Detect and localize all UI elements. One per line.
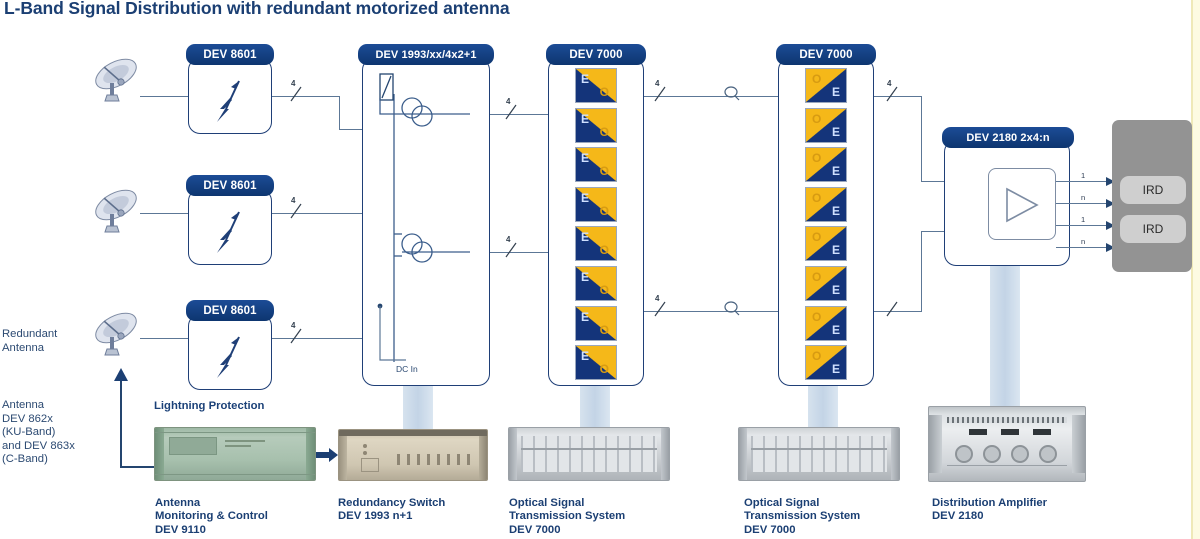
page-title: L-Band Signal Distribution with redundan… [4, 0, 509, 19]
optical-rx-module-3[interactable]: OE [805, 147, 847, 182]
connector-bar-optical-rx [808, 386, 838, 430]
optical-rx-module-6-letter-electrical: E [832, 284, 840, 296]
optical-rx-module-1-letter-electrical: E [832, 86, 840, 98]
satellite-dish-icon-3-redundant [86, 309, 142, 361]
switch-matrix-schematic [366, 66, 488, 384]
photo-redundancy-switch-dev1993 [338, 429, 488, 481]
optical-tx-module-6-letter-optical: O [600, 284, 609, 296]
bus-count-6: 4 [655, 79, 659, 88]
bus-slash-9 [884, 299, 900, 319]
optical-tx-module-2-letter-optical: O [600, 126, 609, 138]
amp-output-label-2: n [1081, 193, 1085, 202]
optical-tx-module-8-letter-optical: O [600, 363, 609, 375]
photo-optical-tx-dev7000 [508, 427, 670, 481]
device-optical-rx-label: DEV 7000 [776, 44, 876, 65]
caption-distribution-amplifier: Distribution Amplifier DEV 2180 [932, 497, 1132, 524]
device-lnb-3-label: DEV 8601 [186, 300, 274, 321]
optical-rx-module-6[interactable]: OE [805, 266, 847, 301]
photo-antenna-monitoring-dev9110 [154, 427, 316, 481]
label-antenna-types: Antenna DEV 862x (KU-Band) and DEV 863x … [2, 399, 102, 467]
connector-bar-distribution-amplifier [990, 266, 1020, 406]
wire-lnb1-drop [339, 96, 340, 130]
lightning-bolt-icon-2 [206, 207, 254, 259]
wire-rx-bottom-rise [921, 231, 922, 312]
optical-tx-module-3-letter-optical: O [600, 165, 609, 177]
optical-tx-module-1-letter-optical: O [600, 86, 609, 98]
amp-output-label-1: 1 [1081, 171, 1085, 180]
amp-output-label-4: n [1081, 237, 1085, 246]
bus-count-8: 4 [887, 79, 891, 88]
optical-tx-module-6-letter-electrical: E [581, 271, 589, 283]
satellite-dish-icon-1 [86, 55, 142, 107]
optical-rx-module-3-letter-optical: O [812, 152, 821, 164]
page-right-border-inner [1191, 0, 1193, 539]
optical-tx-module-1[interactable]: EO [575, 68, 617, 103]
optical-rx-module-7[interactable]: OE [805, 306, 847, 341]
caption-optical-tx: Optical Signal Transmission System DEV 7… [509, 497, 689, 537]
optical-tx-module-3[interactable]: EO [575, 147, 617, 182]
optical-tx-module-2[interactable]: EO [575, 108, 617, 143]
device-distribution-amplifier-label: DEV 2180 2x4:n [942, 127, 1074, 148]
wire-dish1-to-lnb1 [140, 96, 188, 97]
device-optical-tx-label: DEV 7000 [546, 44, 646, 65]
bus-count-7: 4 [655, 294, 659, 303]
arrow-monitoring-to-switch [316, 448, 340, 464]
optical-rx-module-7-letter-optical: O [812, 311, 821, 323]
optical-rx-module-8-letter-optical: O [812, 350, 821, 362]
lightning-bolt-icon-3 [206, 332, 254, 384]
optical-tx-module-5-letter-electrical: E [581, 231, 589, 243]
optical-tx-module-4-letter-electrical: E [581, 192, 589, 204]
wire-rx-top-drop [921, 96, 922, 182]
optical-tx-module-5-letter-optical: O [600, 244, 609, 256]
amp-output-label-3: 1 [1081, 215, 1085, 224]
optical-tx-module-3-letter-electrical: E [581, 152, 589, 164]
optical-tx-module-7-letter-optical: O [600, 324, 609, 336]
optical-rx-module-8[interactable]: OE [805, 345, 847, 380]
optical-rx-module-5[interactable]: OE [805, 226, 847, 261]
device-redundancy-switch-label: DEV 1993/xx/4x2+1 [358, 44, 494, 65]
fiber-optic-symbol-bottom [723, 300, 741, 316]
device-lnb-1-label: DEV 8601 [186, 44, 274, 65]
headend-ird-1[interactable]: IRD [1120, 176, 1186, 204]
wire-dish3-to-lnb3 [140, 338, 188, 339]
bus-count-2: 4 [291, 196, 295, 205]
diagram-canvas: L-Band Signal Distribution with redundan… [0, 0, 1200, 539]
optical-rx-module-4[interactable]: OE [805, 187, 847, 222]
optical-tx-module-4-letter-optical: O [600, 205, 609, 217]
optical-rx-module-4-letter-electrical: E [832, 205, 840, 217]
optical-tx-module-8-letter-electrical: E [581, 350, 589, 362]
device-lnb-2-label: DEV 8601 [186, 175, 274, 196]
caption-antenna-monitoring: Antenna Monitoring & Control DEV 9110 [155, 497, 335, 537]
dc-in-label: DC In [396, 364, 418, 374]
label-lightning-protection: Lightning Protection [154, 400, 264, 414]
optical-rx-module-7-letter-electrical: E [832, 324, 840, 336]
optical-tx-module-4[interactable]: EO [575, 187, 617, 222]
optical-tx-module-6[interactable]: EO [575, 266, 617, 301]
bus-count-3: 4 [291, 321, 295, 330]
wire-dish2-to-lnb2 [140, 213, 188, 214]
optical-tx-module-2-letter-electrical: E [581, 113, 589, 125]
bus-count-5: 4 [506, 235, 510, 244]
wire-switch-to-tx-2 [490, 252, 552, 253]
wire-switch-to-tx-1 [490, 114, 552, 115]
amplifier-triangle-icon [1004, 186, 1042, 224]
headend-title: Headend Equipment [1112, 126, 1200, 153]
optical-tx-module-7[interactable]: EO [575, 306, 617, 341]
caption-optical-rx: Optical Signal Transmission System DEV 7… [744, 497, 924, 537]
caption-redundancy-switch: Redundancy Switch DEV 1993 n+1 [338, 497, 518, 524]
arrow-monitoring-up [112, 368, 130, 384]
optical-rx-module-3-letter-electrical: E [832, 165, 840, 177]
wire-lnb1-out [272, 96, 340, 97]
bus-count-4: 4 [506, 97, 510, 106]
wire-monitoring-rise [120, 378, 122, 468]
optical-tx-module-7-letter-electrical: E [581, 311, 589, 323]
optical-rx-module-5-letter-electrical: E [832, 244, 840, 256]
satellite-dish-icon-2 [86, 186, 142, 238]
optical-rx-module-2[interactable]: OE [805, 108, 847, 143]
fiber-optic-symbol-top [723, 85, 741, 101]
photo-optical-rx-dev7000 [738, 427, 900, 481]
optical-rx-module-6-letter-optical: O [812, 271, 821, 283]
optical-rx-module-2-letter-electrical: E [832, 126, 840, 138]
headend-ird-2[interactable]: IRD [1120, 215, 1186, 243]
optical-tx-module-8[interactable]: EO [575, 345, 617, 380]
connector-bar-redundancy-switch [403, 386, 433, 430]
bus-count-1: 4 [291, 79, 295, 88]
lightning-bolt-icon-1 [206, 76, 254, 128]
optical-rx-module-2-letter-optical: O [812, 113, 821, 125]
optical-rx-module-1[interactable]: OE [805, 68, 847, 103]
optical-tx-module-1-letter-electrical: E [581, 73, 589, 85]
photo-distribution-amplifier-dev2180 [928, 406, 1086, 482]
connector-bar-optical-tx [580, 386, 610, 430]
optical-rx-module-4-letter-optical: O [812, 192, 821, 204]
optical-rx-module-8-letter-electrical: E [832, 363, 840, 375]
page-right-border [1193, 0, 1200, 539]
label-redundant-antenna: Redundant Antenna [2, 328, 97, 355]
optical-rx-module-5-letter-optical: O [812, 231, 821, 243]
optical-rx-module-1-letter-optical: O [812, 73, 821, 85]
optical-tx-module-5[interactable]: EO [575, 226, 617, 261]
